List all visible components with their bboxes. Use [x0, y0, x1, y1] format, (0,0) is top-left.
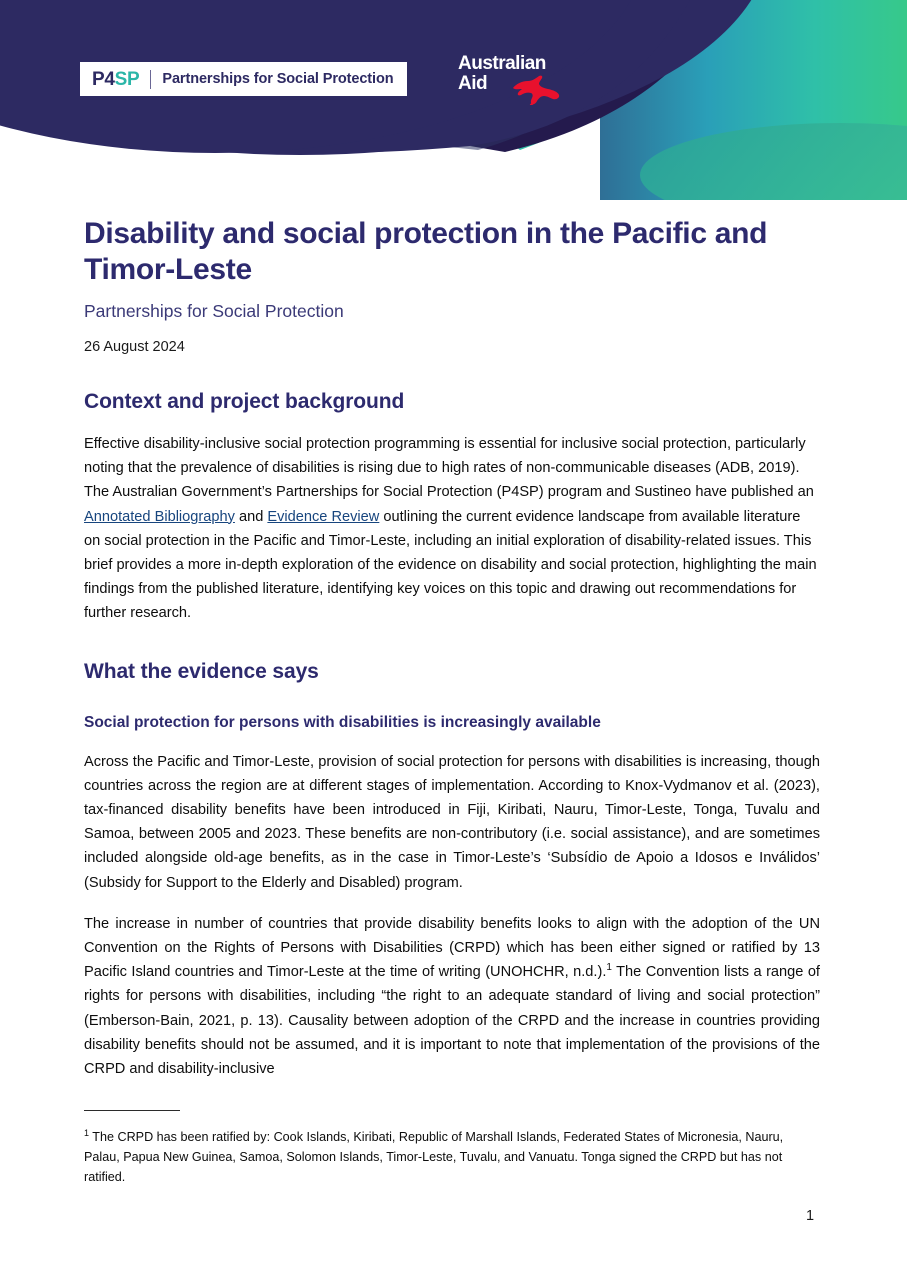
p4sp-logo: P4SP Partnerships for Social Protection — [80, 62, 407, 96]
paragraph-context-part3: outlining the current evidence landscape… — [84, 509, 817, 622]
page-title: Disability and social protection in the … — [84, 216, 820, 288]
logo-p4-text: P4 — [92, 70, 115, 89]
section-heading-evidence: What the evidence says — [84, 659, 820, 685]
page-number: 1 — [806, 1208, 814, 1224]
australian-aid-logo: Australian Aid — [458, 54, 578, 106]
paragraph-context: Effective disability-inclusive social pr… — [84, 432, 820, 626]
footnote-1: 1 The CRPD has been ratified by: Cook Is… — [84, 1127, 820, 1187]
link-evidence-review[interactable]: Evidence Review — [267, 509, 379, 525]
section-heading-context: Context and project background — [84, 389, 820, 415]
header-banner: P4SP Partnerships for Social Protection … — [0, 0, 907, 200]
paragraph-evidence-2-part2: The Convention lists a range of rights f… — [84, 964, 820, 1077]
subsection-heading-availability: Social protection for persons with disab… — [84, 713, 820, 733]
link-annotated-bibliography[interactable]: Annotated Bibliography — [84, 509, 235, 525]
australian-aid-line1: Australian — [458, 54, 578, 74]
footnote-area: 1 The CRPD has been ratified by: Cook Is… — [84, 1110, 820, 1187]
document-subtitle: Partnerships for Social Protection — [84, 300, 820, 322]
document-date: 26 August 2024 — [84, 338, 820, 356]
document-content: Disability and social protection in the … — [84, 216, 820, 1081]
logo-sp-text: SP — [115, 70, 140, 89]
paragraph-context-part2: and — [235, 509, 267, 525]
paragraph-context-part1: Effective disability-inclusive social pr… — [84, 436, 814, 500]
kangaroo-icon — [506, 75, 560, 105]
footnote-separator — [84, 1110, 180, 1111]
banner-graphic — [0, 0, 907, 200]
paragraph-evidence-2: The increase in number of countries that… — [84, 912, 820, 1081]
paragraph-evidence-1: Across the Pacific and Timor-Leste, prov… — [84, 750, 820, 895]
logo-divider — [150, 70, 151, 89]
logo-tagline: Partnerships for Social Protection — [162, 72, 393, 87]
footnote-body: The CRPD has been ratified by: Cook Isla… — [84, 1130, 783, 1184]
